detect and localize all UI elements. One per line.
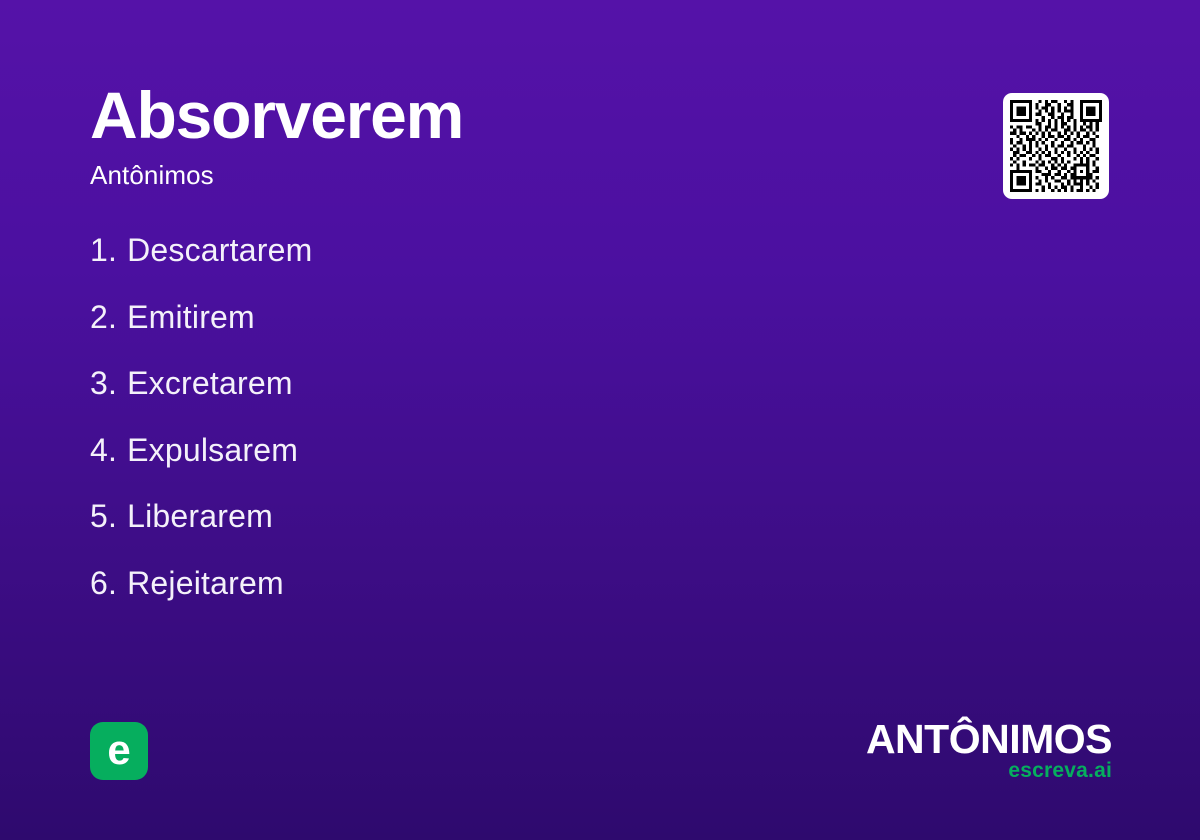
list-item: 5. Liberarem — [90, 498, 312, 565]
list-item-word: Descartarem — [127, 232, 312, 269]
list-item-word: Rejeitarem — [127, 565, 284, 602]
list-item-index: 5. — [90, 498, 117, 535]
page-title: Absorverem — [90, 82, 463, 148]
brand-logo: ANTÔNIMOS escreva.ai — [866, 720, 1112, 781]
brand-logo-main: ANTÔNIMOS — [866, 720, 1112, 759]
list-item-index: 4. — [90, 432, 117, 469]
antonyms-word-card: Absorverem Antônimos 1. Descartarem 2. E… — [0, 0, 1200, 840]
list-item-index: 3. — [90, 365, 117, 402]
list-item-word: Liberarem — [127, 498, 273, 535]
list-item-word: Emitirem — [127, 299, 255, 336]
list-item: 1. Descartarem — [90, 232, 312, 299]
qr-code-icon[interactable] — [1003, 93, 1109, 199]
list-item-word: Expulsarem — [127, 432, 298, 469]
list-item-word: Excretarem — [127, 365, 293, 402]
page-subtitle: Antônimos — [90, 162, 463, 188]
brand-logo-sub: escreva.ai — [866, 760, 1112, 781]
antonym-list: 1. Descartarem 2. Emitirem 3. Excretarem… — [90, 232, 312, 631]
list-item: 3. Excretarem — [90, 365, 312, 432]
list-item: 2. Emitirem — [90, 299, 312, 366]
list-item-index: 1. — [90, 232, 117, 269]
card-header: Absorverem Antônimos — [90, 82, 463, 188]
list-item: 4. Expulsarem — [90, 432, 312, 499]
list-item-index: 2. — [90, 299, 117, 336]
escreva-badge-icon[interactable]: e — [90, 722, 148, 780]
list-item-index: 6. — [90, 565, 117, 602]
list-item: 6. Rejeitarem — [90, 565, 312, 632]
badge-letter: e — [107, 729, 130, 771]
